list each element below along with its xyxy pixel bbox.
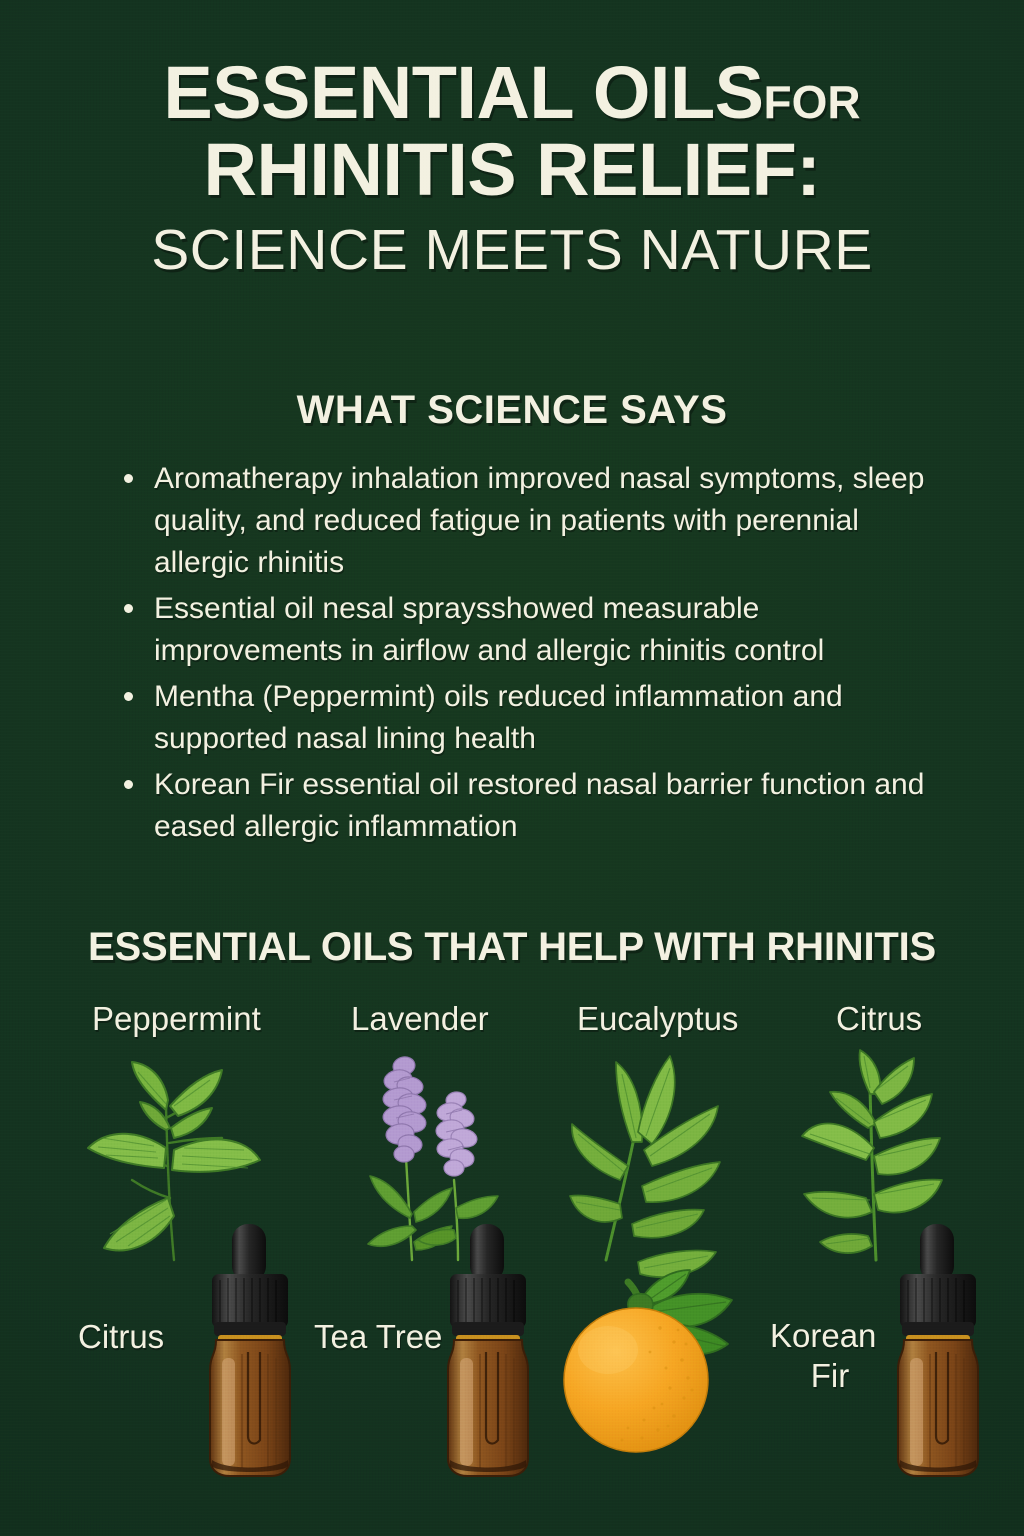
bullet-dot-icon (124, 780, 133, 789)
dropper-bottle-citrus (196, 1222, 304, 1480)
korean-fir-line-1: Korean (770, 1317, 876, 1354)
list-item: Mentha (Peppermint) oils reduced inflamm… (118, 676, 948, 760)
list-item: Korean Fir essential oil restored nasal … (118, 764, 948, 848)
bullet-dot-icon (124, 692, 133, 701)
oil-label-eucalyptus: Eucalyptus (577, 1000, 738, 1038)
oils-section-heading: ESSENTIAL OILS THAT HELP WITH RHINITIS (0, 925, 1024, 970)
title-line-2: RHINITIS RELIEF: (0, 133, 1024, 206)
oil-label-lavender: Lavender (351, 1000, 489, 1038)
oil-label-tea-tree: Tea Tree (314, 1318, 442, 1356)
oil-label-citrus-top: Citrus (836, 1000, 922, 1038)
bullet-dot-icon (124, 604, 133, 613)
poster-title: ESSENTIAL OILSFOR RHINITIS RELIEF: SCIEN… (0, 56, 1024, 283)
bullet-text: Korean Fir essential oil restored nasal … (154, 768, 924, 843)
title-for-text: FOR (764, 76, 861, 128)
science-bullet-list: Aromatherapy inhalation improved nasal s… (118, 458, 948, 852)
title-line-3: SCIENCE MEETS NATURE (0, 217, 1024, 283)
science-section-heading: WHAT SCIENCE SAYS (0, 388, 1024, 433)
bullet-text: Essential oil nesal spraysshowed measura… (154, 592, 824, 667)
korean-fir-line-2: Fir (770, 1356, 890, 1396)
title-main-text: ESSENTIAL OILS (163, 51, 763, 134)
oil-label-korean-fir: Korean Fir (770, 1316, 890, 1396)
oil-label-citrus-bottom: Citrus (78, 1318, 164, 1356)
eucalyptus-plant-illustration (558, 1046, 773, 1286)
oil-top-label-row: Peppermint Lavender Eucalyptus Citrus (0, 1000, 1024, 1046)
dropper-bottle-tea-tree (434, 1222, 542, 1480)
bullet-dot-icon (124, 474, 133, 483)
list-item: Essential oil nesal spraysshowed measura… (118, 588, 948, 672)
title-line-1: ESSENTIAL OILSFOR (0, 56, 1024, 129)
bullet-text: Aromatherapy inhalation improved nasal s… (154, 462, 924, 579)
dropper-bottle-korean-fir (884, 1222, 992, 1480)
orange-fruit-illustration (556, 1268, 756, 1458)
infographic-poster: ESSENTIAL OILSFOR RHINITIS RELIEF: SCIEN… (0, 0, 1024, 1536)
oil-label-peppermint: Peppermint (92, 1000, 261, 1038)
list-item: Aromatherapy inhalation improved nasal s… (118, 458, 948, 584)
bullet-text: Mentha (Peppermint) oils reduced inflamm… (154, 680, 843, 755)
